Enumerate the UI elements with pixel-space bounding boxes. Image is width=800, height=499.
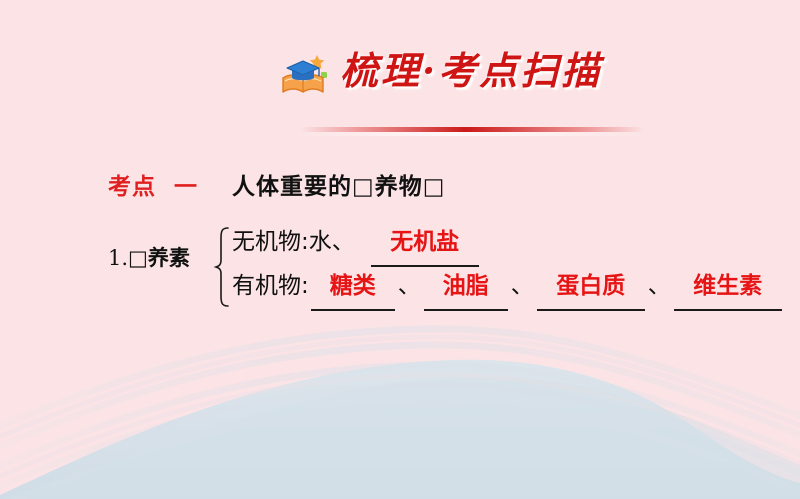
answer-blank-protein[interactable]: 蛋白质 — [537, 264, 645, 311]
header-divider-glow — [300, 132, 645, 136]
organic-row: 有机物:糖类、油脂、蛋白质、维生素 — [232, 264, 772, 308]
separator-3: 、 — [647, 273, 672, 299]
answer-blank-sugar[interactable]: 糖类 — [311, 264, 395, 311]
inorganic-lead: 无机物:水、 — [232, 229, 355, 255]
curly-brace-icon — [213, 226, 231, 308]
nutrient-rows: 无机物:水、无机盐 有机物:糖类、油脂、蛋白质、维生素 — [232, 220, 772, 308]
slide-canvas: 梳理·考点扫描 考点 一 人体重要的□养物□ 1.□养素 无机物:水、无机盐 有 — [0, 0, 800, 499]
header-banner: 梳理·考点扫描 — [0, 36, 800, 106]
separator-2: 、 — [510, 273, 535, 299]
kaodian-number: 一 — [174, 174, 198, 200]
answer-blank-oil-fat[interactable]: 油脂 — [424, 264, 508, 311]
graduation-cap-book-icon — [277, 50, 329, 100]
organic-lead: 有机物: — [232, 273, 309, 299]
item-index: 1.□养素 — [108, 245, 190, 271]
separator-1: 、 — [397, 273, 422, 299]
item-index-number: 1. — [108, 246, 128, 270]
item-index-word: □养素 — [128, 246, 190, 270]
decorative-wave-background — [0, 319, 800, 499]
kaodian-label: 考点 — [108, 174, 156, 200]
inorganic-row: 无机物:水、无机盐 — [232, 220, 772, 264]
answer-blank-vitamin[interactable]: 维生素 — [674, 264, 782, 311]
kaodian-title: 人体重要的□养物□ — [232, 174, 445, 200]
nutrient-item-block: 1.□养素 无机物:水、无机盐 有机物:糖类、油脂、蛋白质、维生素 — [108, 220, 768, 310]
kaodian-heading: 考点 一 人体重要的□养物□ — [108, 172, 446, 202]
answer-blank-inorganic-salt[interactable]: 无机盐 — [371, 220, 479, 267]
header-title: 梳理·考点扫描 — [340, 46, 670, 100]
